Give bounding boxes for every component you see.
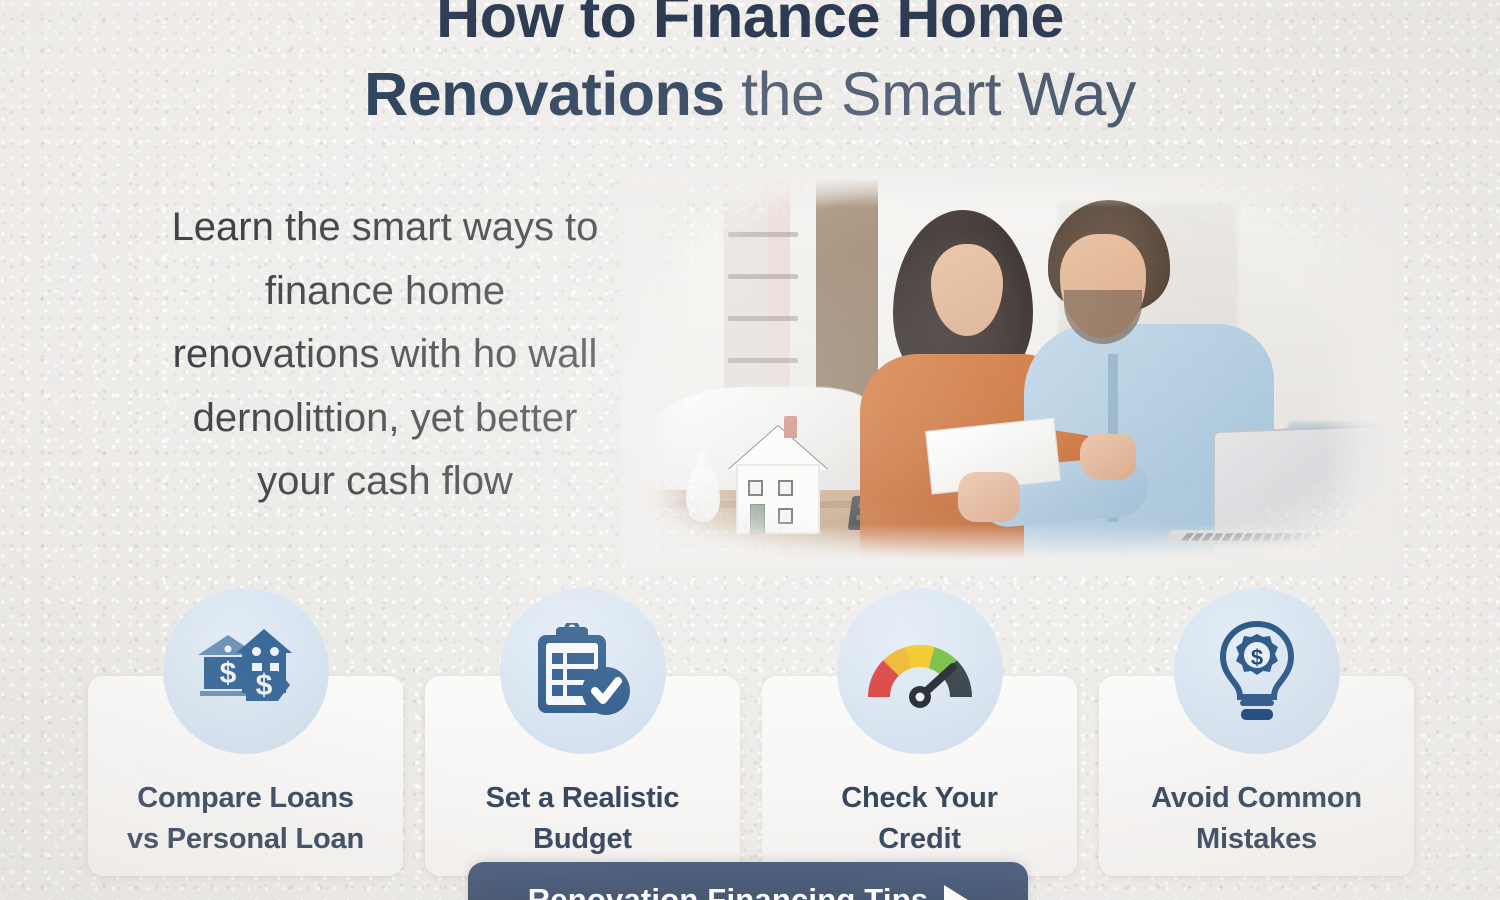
feature-card-check-credit[interactable]: Check Your Credit	[762, 676, 1077, 876]
photo-woman-hand	[1080, 434, 1136, 480]
feature-card-label: Check Your Credit	[841, 778, 997, 860]
svg-text:$: $	[255, 669, 272, 702]
intro-paragraph: Learn the smart ways to finance home ren…	[160, 196, 610, 514]
feature-card-set-budget[interactable]: Set a Realistic Budget	[425, 676, 740, 876]
banner-label: Renovation Financing Tips	[528, 882, 929, 900]
play-arrow-icon	[944, 885, 968, 900]
badge-compare-loans: $ $	[163, 588, 329, 754]
clipboard-checklist-check-icon	[534, 623, 632, 719]
title-line-1: How to Finance Home	[0, 0, 1500, 49]
credit-score-gauge-icon	[861, 631, 979, 711]
photo-model-house	[728, 422, 828, 534]
title-line-1-text: How to Finance Home	[436, 0, 1064, 50]
feature-card-label: Set a Realistic Budget	[486, 778, 680, 860]
lightbulb-gear-dollar-icon: $	[1211, 620, 1303, 722]
title-line-2-tail: the Smart Way	[725, 60, 1136, 128]
svg-text:$: $	[1250, 645, 1262, 670]
feature-card-row: $ $ Compare Loans vs Personal Loan	[88, 676, 1414, 876]
bank-and-house-dollar-icon: $ $	[194, 625, 298, 717]
feature-card-label: Compare Loans vs Personal Loan	[127, 778, 364, 860]
title-line-2: Renovations the Smart Way	[0, 62, 1500, 127]
infographic-page: How to Finance Home Renovations the Smar…	[0, 0, 1500, 900]
hero-photo	[628, 172, 1398, 564]
badge-avoid-mistakes: $	[1174, 588, 1340, 754]
photo-man-hand	[958, 472, 1020, 522]
feature-card-avoid-mistakes[interactable]: $ Avoid Common Mistakes	[1099, 676, 1414, 876]
hero-photo-image	[628, 172, 1398, 564]
renovation-financing-tips-banner[interactable]: Renovation Financing Tips	[468, 862, 1028, 900]
photo-laptop-keyboard	[1181, 533, 1335, 540]
feature-card-label: Avoid Common Mistakes	[1151, 778, 1362, 860]
title-keyword-renovations: Renovations	[364, 60, 725, 128]
page-title: How to Finance Home Renovations the Smar…	[0, 0, 1500, 126]
badge-set-budget	[500, 588, 666, 754]
badge-check-credit	[837, 588, 1003, 754]
feature-card-compare-loans[interactable]: $ $ Compare Loans vs Personal Loan	[88, 676, 403, 876]
svg-text:$: $	[219, 657, 236, 690]
